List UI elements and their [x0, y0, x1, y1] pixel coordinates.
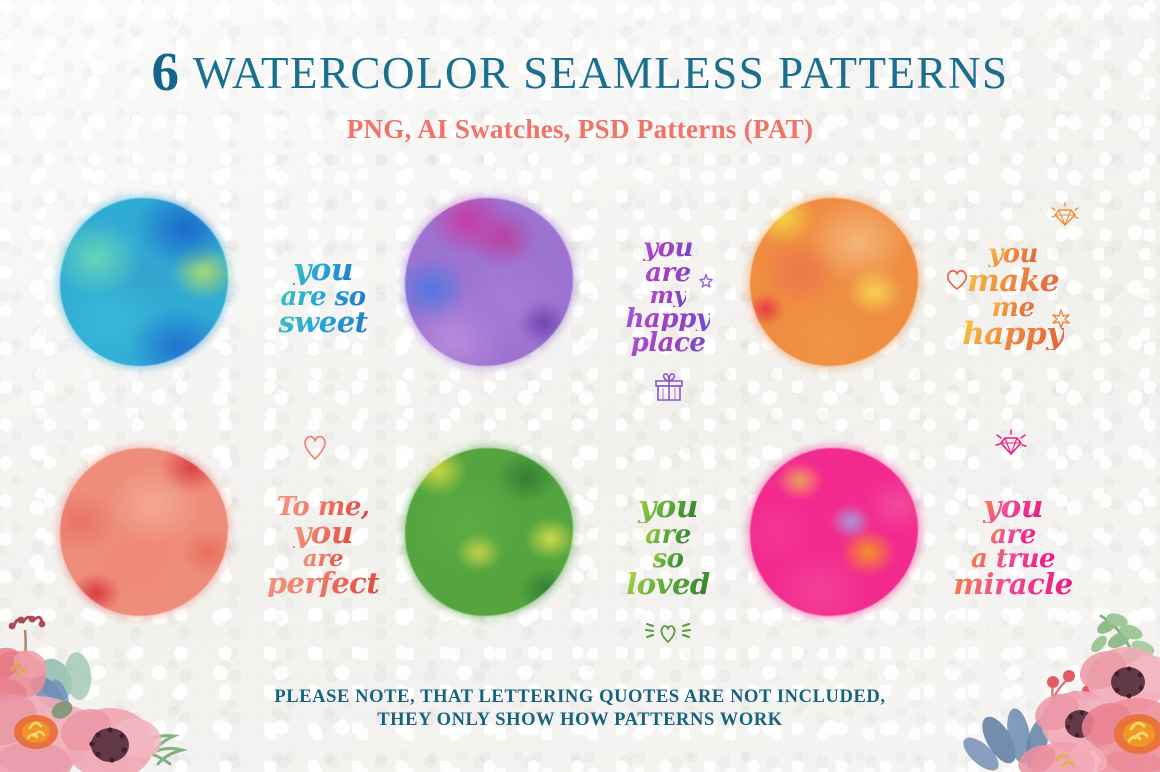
pink-magenta-watercolor-circle [750, 448, 918, 616]
format-subtitle: PNG, AI Swatches, PSD Patterns (PAT) [0, 114, 1160, 145]
page-title-text: WATERCOLOR SEAMLESS PATTERNS [193, 48, 1008, 98]
heart-icon [645, 618, 691, 646]
lettering-quote-happy-place: you are my happy place [593, 180, 743, 412]
lettering-quote-sweet: you are so sweet [248, 180, 398, 412]
bottom-left-floral-bouquet [0, 604, 207, 772]
purple-magenta-watercolor-circle [405, 198, 573, 366]
heart-icon [300, 432, 330, 462]
swatch-row-top: you are so sweet you are my happy place [0, 170, 1160, 420]
bottom-right-floral-bouquet [951, 604, 1160, 772]
quote-line: place [631, 331, 706, 355]
quote-line: you [293, 256, 353, 285]
green-yellow-watercolor-circle [405, 448, 573, 616]
quote-line: miracle [953, 571, 1072, 598]
pattern-count: 6 [152, 41, 180, 102]
quote-line: perfect [267, 570, 380, 597]
quote-line: you [983, 493, 1043, 522]
quote-line: sweet [278, 309, 367, 336]
page-title: 6WATERCOLOR SEAMLESS PATTERNS [0, 40, 1160, 103]
quote-line: you [638, 493, 698, 522]
orange-yellow-watercolor-circle [750, 198, 918, 366]
watercolor-patterns-preview-poster: 6WATERCOLOR SEAMLESS PATTERNS PNG, AI Sw… [0, 0, 1160, 772]
lettering-quote-perfect: To me, you are perfect [248, 430, 398, 662]
quote-line: loved [626, 571, 709, 598]
diamond-icon [1050, 202, 1080, 230]
coral-red-watercolor-circle [60, 448, 228, 616]
lettering-quote-so-loved: you are so loved [593, 430, 743, 662]
lettering-quote-make-me-happy: you make me happy [938, 180, 1088, 412]
gift-box-icon [653, 370, 685, 404]
swatch-cell: you are so sweet [38, 170, 398, 420]
swatch-cell: you are so loved [383, 420, 743, 670]
diamond-icon [994, 428, 1028, 460]
swatch-cell: you are my happy place [383, 170, 743, 420]
quote-line: happy [962, 320, 1064, 349]
swatch-cell: you make me happy [728, 170, 1088, 420]
star-icon [697, 272, 715, 290]
quote-line: make [967, 267, 1059, 296]
blue-teal-watercolor-circle [60, 198, 228, 366]
quote-line: you [293, 519, 353, 548]
